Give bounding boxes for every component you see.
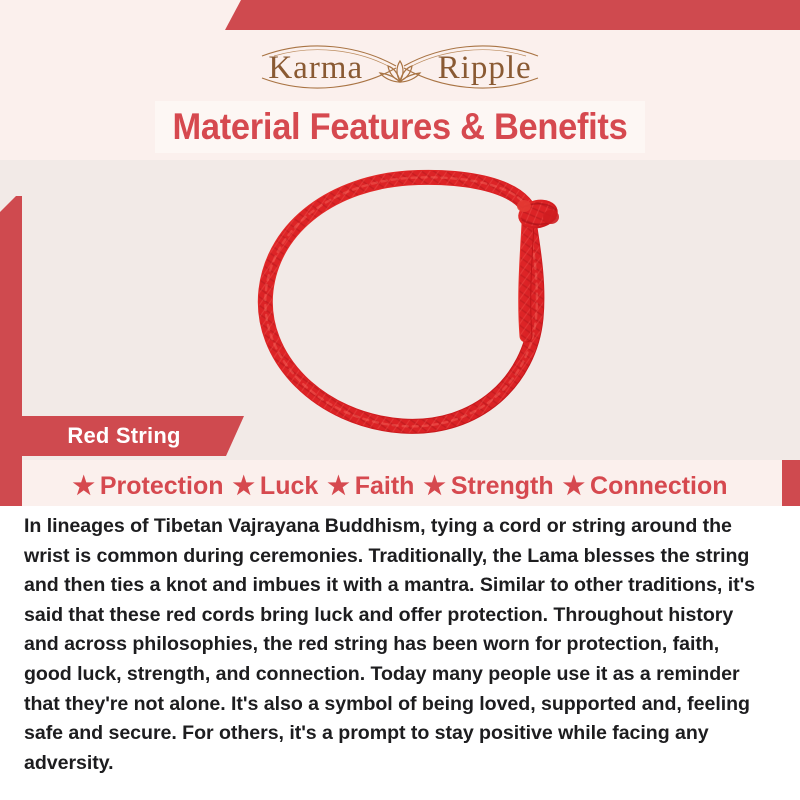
brand-logo: Karma Ripple (0, 38, 800, 94)
benefit-label: Luck (260, 472, 318, 501)
brand-name-second: Ripple (438, 40, 532, 96)
benefit-label: Connection (590, 472, 728, 501)
red-string-bracelet-illustration (240, 168, 620, 438)
product-label-text: Red String (22, 416, 226, 456)
brand-name-first: Karma (268, 40, 363, 96)
brand-logo-inner: Karma Ripple (268, 38, 531, 94)
benefits-list: ★ Protection ★ Luck ★ Faith ★ Strength ★… (0, 466, 800, 506)
benefit-item-luck: ★ Luck (233, 472, 319, 501)
benefit-label: Faith (355, 472, 415, 501)
benefit-label: Protection (100, 472, 224, 501)
benefit-item-faith: ★ Faith (327, 472, 414, 501)
page-title: Material Features & Benefits (28, 100, 772, 154)
bracelet-product-image (240, 168, 620, 438)
benefit-item-connection: ★ Connection (563, 472, 728, 501)
star-icon: ★ (423, 474, 445, 499)
brand-name: Karma Ripple (268, 48, 531, 84)
benefit-item-protection: ★ Protection (72, 472, 223, 501)
star-icon: ★ (327, 474, 349, 499)
star-icon: ★ (233, 474, 255, 499)
benefit-item-strength: ★ Strength (423, 472, 553, 501)
star-icon: ★ (563, 474, 585, 499)
product-infographic: Karma Ripple Material Features & Benefit… (0, 0, 800, 800)
description-paragraph: In lineages of Tibetan Vajrayana Buddhis… (24, 512, 772, 778)
star-icon: ★ (72, 474, 94, 499)
decorative-top-right-band-overlay (225, 0, 800, 30)
benefit-label: Strength (451, 472, 554, 501)
lotus-icon (372, 51, 428, 85)
